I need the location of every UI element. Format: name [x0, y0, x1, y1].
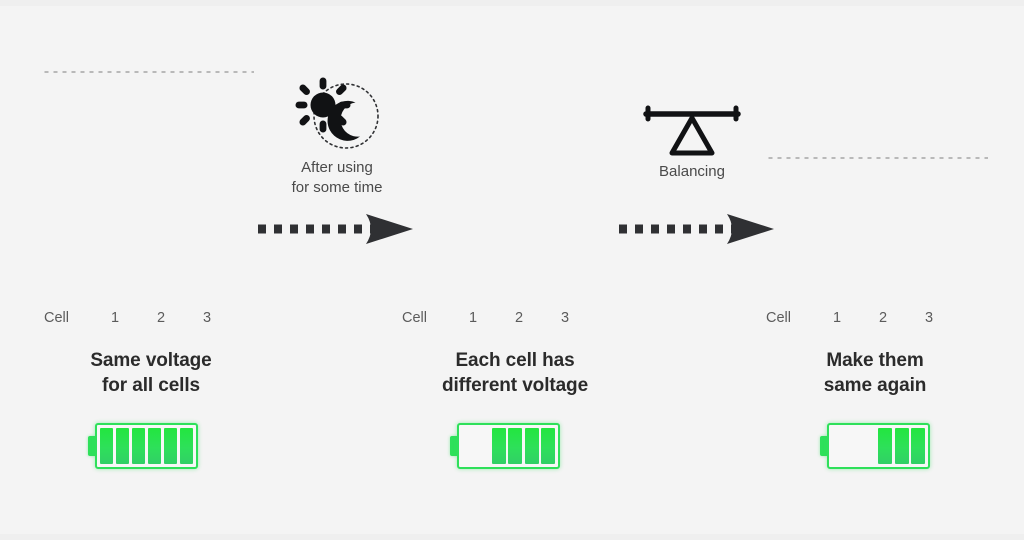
axis-tick-1: 1	[96, 310, 134, 326]
battery-segment	[508, 428, 522, 464]
infographic-canvas: 4.15V 4.15V 4.15V Cell 1 2 3 Same voltag…	[0, 0, 1024, 540]
caption-line-1: Each cell has	[390, 348, 640, 373]
caption-line-2: different voltage	[390, 373, 640, 398]
axis-label-cell: Cell	[766, 310, 818, 326]
battery-segment	[100, 428, 113, 464]
transition-balancing-label: Balancing	[622, 162, 762, 182]
battery-icon-partial-3	[820, 423, 932, 469]
caption-balanced: Make them same again	[755, 348, 995, 398]
battery-segment	[180, 428, 193, 464]
battery-segment	[541, 428, 555, 464]
battery-segment	[132, 428, 145, 464]
sun-moon-icon	[290, 74, 386, 152]
battery-body	[95, 423, 198, 469]
axis-row-unbalanced: Cell 1 2 3	[402, 310, 592, 326]
guideline-balanced	[766, 157, 988, 159]
caption-line-2: for all cells	[31, 373, 271, 398]
guideline-before	[42, 71, 254, 73]
battery-icon-partial-4	[450, 423, 562, 469]
battery-segment	[116, 428, 129, 464]
axis-tick-1: 1	[454, 310, 492, 326]
axis-tick-2: 2	[500, 310, 538, 326]
axis-tick-2: 2	[864, 310, 902, 326]
battery-segment	[895, 428, 909, 464]
battery-segment	[492, 428, 506, 464]
caption-line-2: same again	[755, 373, 995, 398]
axis-tick-1: 1	[818, 310, 856, 326]
top-edge-strip	[0, 0, 1024, 6]
battery-segment	[525, 428, 539, 464]
axis-row-before: Cell 1 2 3	[44, 310, 234, 326]
axis-tick-3: 3	[546, 310, 584, 326]
dashed-arrow-right-icon	[615, 213, 779, 245]
axis-label-cell: Cell	[402, 310, 454, 326]
axis-tick-3: 3	[188, 310, 226, 326]
battery-segment	[878, 428, 892, 464]
caption-before: Same voltage for all cells	[31, 348, 271, 398]
battery-segment	[164, 428, 177, 464]
dashed-arrow-usage	[254, 213, 418, 250]
transition-balancing: Balancing	[622, 100, 762, 220]
battery-segment	[148, 428, 161, 464]
balance-scale-icon	[642, 104, 742, 160]
axis-tick-2: 2	[142, 310, 180, 326]
label-line-2: for some time	[262, 178, 412, 198]
battery-body	[457, 423, 560, 469]
battery-icon-full	[88, 423, 200, 469]
caption-line-1: Make them	[755, 348, 995, 373]
dashed-arrow-right-icon	[254, 213, 418, 245]
label-line-1: Balancing	[622, 162, 762, 182]
transition-usage-label: After using for some time	[262, 158, 412, 198]
axis-row-balanced: Cell 1 2 3	[766, 310, 956, 326]
axis-label-cell: Cell	[44, 310, 96, 326]
caption-line-1: Same voltage	[31, 348, 271, 373]
bottom-edge-strip	[0, 534, 1024, 540]
battery-segment	[911, 428, 925, 464]
axis-tick-3: 3	[910, 310, 948, 326]
label-line-1: After using	[262, 158, 412, 178]
dashed-arrow-balancing	[615, 213, 779, 250]
caption-unbalanced: Each cell has different voltage	[390, 348, 640, 398]
battery-body	[827, 423, 930, 469]
